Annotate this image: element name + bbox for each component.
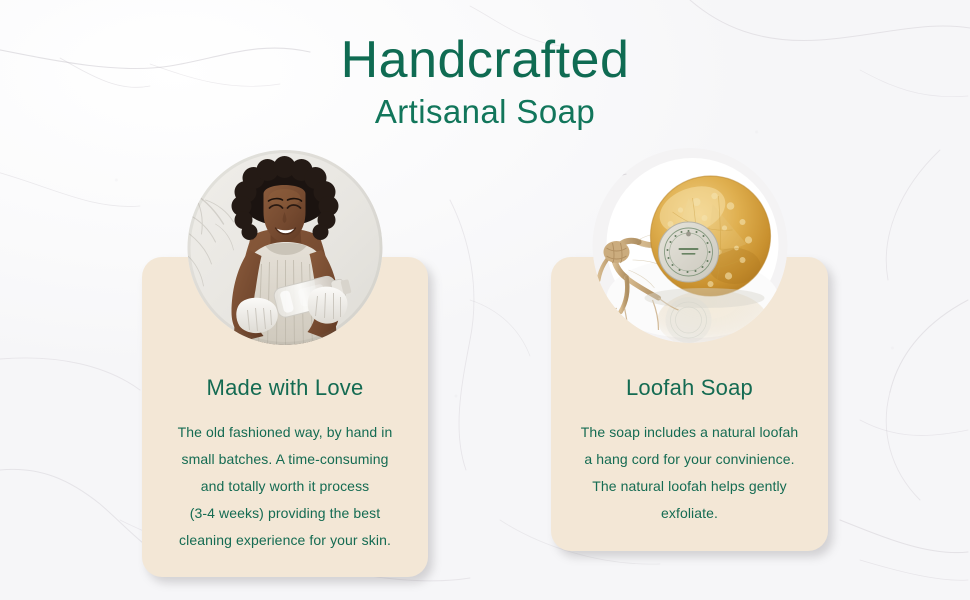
card-surface: Made with Love The old fashioned way, by… bbox=[142, 257, 428, 577]
card-title-loofah-soap: Loofah Soap bbox=[567, 375, 812, 401]
promo-banner: Handcrafted Artisanal Soap bbox=[0, 0, 970, 600]
page-title: Handcrafted bbox=[0, 34, 970, 87]
feature-card-loofah-soap: Loofah Soap The soap includes a natural … bbox=[551, 257, 828, 551]
card-body-made-with-love: The old fashioned way, by hand in small … bbox=[158, 419, 412, 553]
header-block: Handcrafted Artisanal Soap bbox=[0, 34, 970, 132]
card-title-made-with-love: Made with Love bbox=[158, 375, 412, 401]
card-surface: Loofah Soap The soap includes a natural … bbox=[551, 257, 828, 551]
page-subtitle: Artisanal Soap bbox=[0, 91, 970, 132]
feature-card-made-with-love: Made with Love The old fashioned way, by… bbox=[142, 257, 428, 577]
loofah-soap-bar-photo bbox=[592, 148, 787, 343]
woman-pouring-soap-photo bbox=[188, 150, 383, 345]
card-body-loofah-soap: The soap includes a natural loofah a han… bbox=[567, 419, 812, 527]
